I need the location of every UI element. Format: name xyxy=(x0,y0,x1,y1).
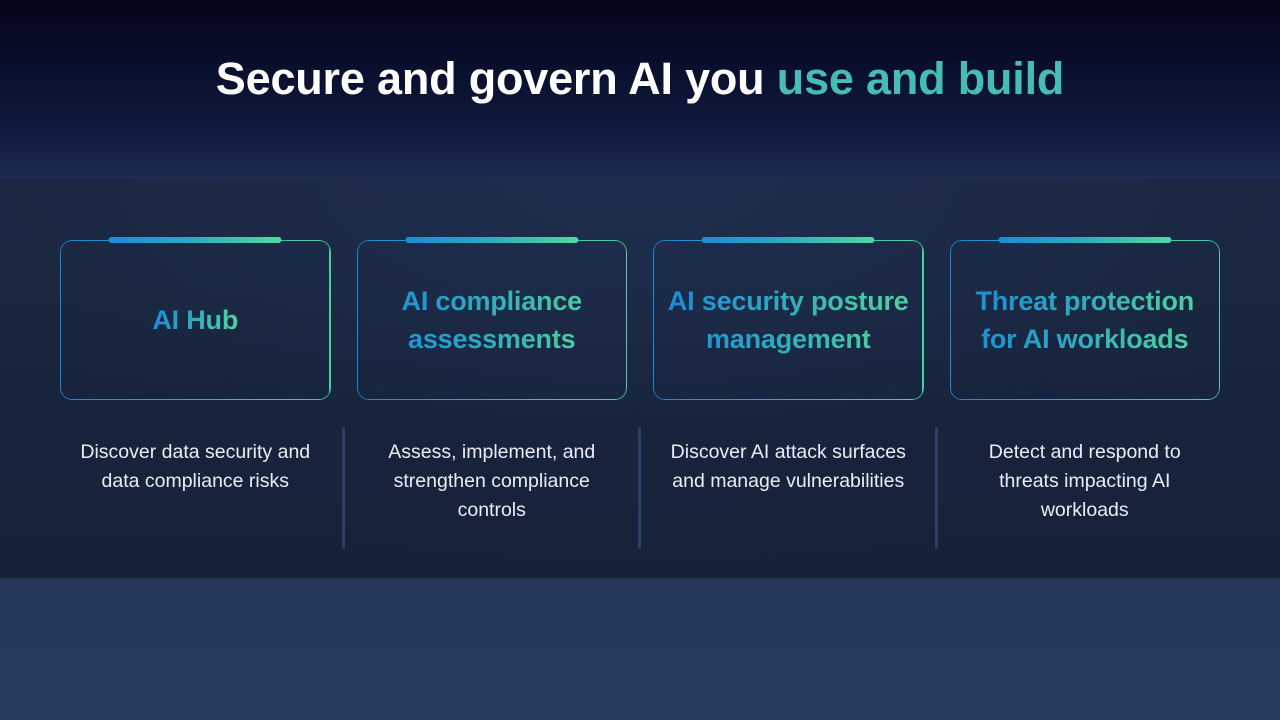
pillar-card-title: AI Hub xyxy=(152,301,238,339)
page-title-accent: use and build xyxy=(777,53,1064,104)
column-divider xyxy=(935,427,938,549)
pillar-card-ai-security-posture-management[interactable]: AI security posture management xyxy=(653,240,924,400)
pillar-description-ai-security-posture-management: Discover AI attack surfaces and manage v… xyxy=(653,438,924,525)
page-title: Secure and govern AI you use and build xyxy=(0,48,1280,110)
card-accent-bar-icon xyxy=(998,237,1171,243)
pillar-description-ai-hub: Discover data security and data complian… xyxy=(60,438,331,525)
pillar-card-title: AI security posture management xyxy=(667,282,910,358)
pillar-description-text: Detect and respond to threats impacting … xyxy=(989,441,1181,521)
pillar-description-row: Discover data security and data complian… xyxy=(60,438,1220,525)
pillar-card-ai-compliance-assessments[interactable]: AI compliance assessments xyxy=(357,240,628,400)
pillar-card-title: AI compliance assessments xyxy=(371,282,614,358)
column-divider xyxy=(342,427,345,549)
card-accent-bar-icon xyxy=(405,237,578,243)
pillar-description-text: Assess, implement, and strengthen compli… xyxy=(388,441,595,521)
pillar-description-text: Discover data security and data complian… xyxy=(80,441,310,492)
column-divider xyxy=(638,427,641,549)
slide-root: Secure and govern AI you use and build A… xyxy=(0,0,1280,720)
background-band-bottom xyxy=(0,578,1280,720)
pillar-description-ai-compliance-assessments: Assess, implement, and strengthen compli… xyxy=(357,438,628,525)
pillar-description-threat-protection-for-ai-workloads: Detect and respond to threats impacting … xyxy=(950,438,1221,525)
pillar-card-threat-protection-for-ai-workloads[interactable]: Threat protection for AI workloads xyxy=(950,240,1221,400)
card-accent-bar-icon xyxy=(109,237,282,243)
pillar-card-ai-hub[interactable]: AI Hub xyxy=(60,240,331,400)
pillar-card-row: AI Hub AI compliance assessments AI secu… xyxy=(60,240,1220,400)
pillar-card-title: Threat protection for AI workloads xyxy=(964,282,1207,358)
page-title-main: Secure and govern AI you xyxy=(216,53,777,104)
pillar-description-text: Discover AI attack surfaces and manage v… xyxy=(671,441,906,492)
card-accent-bar-icon xyxy=(702,237,875,243)
